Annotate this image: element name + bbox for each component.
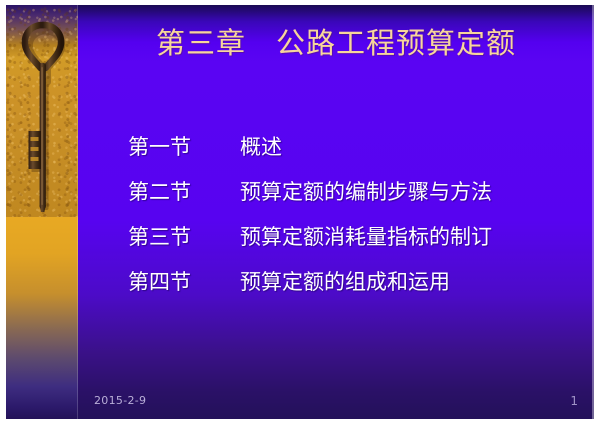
toc-item-1-label: 第一节 <box>128 131 240 161</box>
toc-item-2-text: 预算定额的编制步骤与方法 <box>240 176 588 206</box>
toc-item-4-label: 第四节 <box>128 266 240 296</box>
gold-accent-bar <box>6 217 78 419</box>
toc-item-3-label: 第三节 <box>128 221 240 251</box>
title-placeholder: 第三章 公路工程预算定额 <box>86 27 586 60</box>
toc-item-2: 第二节 预算定额的编制步骤与方法 <box>128 176 588 221</box>
slide-number: 1 <box>570 394 578 408</box>
content-placeholder: 第一节 概述 第二节 预算定额的编制步骤与方法 第三节 预算定额消耗量指标的制订… <box>128 131 588 311</box>
slide-canvas: 第三章 公路工程预算定额 第一节 概述 第二节 预算定额的编制步骤与方法 第三节… <box>0 0 600 424</box>
toc-item-3-text: 预算定额消耗量指标的制订 <box>240 221 588 251</box>
toc-item-4-text: 预算定额的组成和运用 <box>240 266 588 296</box>
toc-item-3: 第三节 预算定额消耗量指标的制订 <box>128 221 588 266</box>
presentation-slide: 第三章 公路工程预算定额 第一节 概述 第二节 预算定额的编制步骤与方法 第三节… <box>6 5 594 419</box>
slide-right-edge <box>592 5 594 419</box>
toc-item-2-label: 第二节 <box>128 176 240 206</box>
toc-item-4: 第四节 预算定额的组成和运用 <box>128 266 588 311</box>
side-decoration-band <box>6 5 78 419</box>
key-icon <box>20 19 66 215</box>
key-photo <box>6 5 78 217</box>
toc-item-1-text: 概述 <box>240 131 588 161</box>
slide-title: 第三章 公路工程预算定额 <box>86 27 586 60</box>
band-divider <box>77 5 78 419</box>
toc-item-1: 第一节 概述 <box>128 131 588 176</box>
footer-date: 2015-2-9 <box>94 394 146 407</box>
